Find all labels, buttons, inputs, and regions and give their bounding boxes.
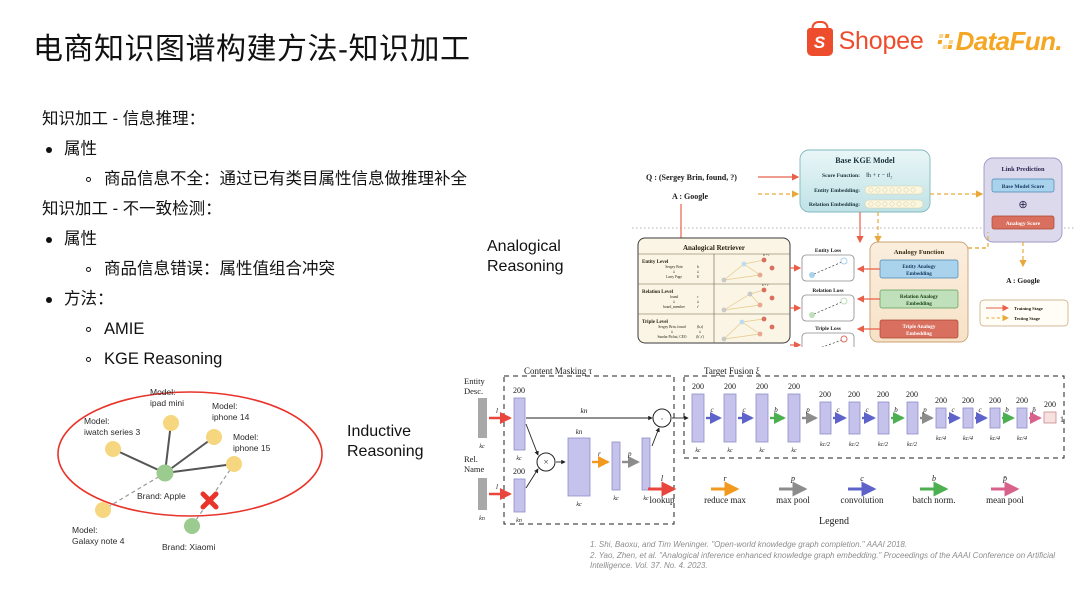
svg-text:200: 200 [935,396,947,405]
node-label: ipad mini [150,398,184,408]
svg-text:⇓: ⇓ [696,270,699,274]
svg-text:lookup: lookup [649,495,675,505]
svg-text:mean pool: mean pool [986,495,1024,505]
caption-line-1: Analogical [487,237,564,257]
entity-embedding-label: Entity Embedding: [814,188,860,194]
edge-to-multiply [526,424,538,455]
shopee-logo: S Shopee [807,27,924,56]
svg-text:kc/2: kc/2 [907,442,917,448]
caption-line-2: Reasoning [487,257,564,277]
graph-node [184,518,200,534]
brand-bar: S Shopee DataFun. [807,26,1062,57]
svg-text:batch norm.: batch norm. [913,495,956,505]
svg-text:Sergey Brin: Sergey Brin [665,265,682,269]
svg-text:r: r [723,474,727,483]
svg-text:kc/4: kc/4 [990,435,1000,442]
multiply-symbol: × [543,457,548,467]
svg-text:200: 200 [1044,400,1056,409]
svg-text:h: h [697,265,699,269]
svg-text:kn: kn [576,428,583,436]
convolution-symbol: c [978,406,982,414]
lookup-symbol: l [496,407,498,415]
entity-input-bar [478,398,487,438]
node-label: iphone 15 [233,443,271,453]
base-kge-title: Base KGE Model [835,156,895,165]
caption-inductive-reasoning: Inductive Reasoning [347,422,424,462]
svg-text:l: l [661,474,664,483]
svg-text:kc: kc [791,448,797,454]
convolution-symbol: c [836,406,840,414]
masking-block: 200 kc [513,386,525,462]
bullet-subitem: AMIE [42,314,512,344]
svg-text:200: 200 [1016,396,1028,405]
base-model-score-label: Base Model Score [1002,184,1045,190]
bullet-item: 属性 [42,134,512,164]
rel-name-label: Name [464,464,485,474]
node-label: Galaxy note 4 [72,536,125,546]
caption-analogical-reasoning: Analogical Reasoning [487,237,564,277]
rel-input-bar [478,478,487,510]
svg-text:⇓: ⇓ [696,300,699,304]
svg-text:1: 1 [1060,415,1064,424]
svg-text:200: 200 [788,382,800,391]
svg-text:kc/4: kc/4 [963,435,973,442]
entity-input-sub: kc [479,444,485,450]
svg-text:200: 200 [819,390,831,399]
meanpool-symbol: p̄ [1031,406,1036,414]
svg-text:200: 200 [692,382,704,391]
citation-item: 1. Shi, Baoxu, and Tim Weninger. "Open-w… [590,540,1060,551]
datafun-logo: DataFun. [938,26,1062,57]
graph-node [163,415,179,431]
plus-operator-icon: ⊕ [1018,199,1027,211]
dot-product-symbol: · [661,414,664,424]
node-label: Brand: Xiaomi [162,542,215,552]
maxpool-symbol: p [922,406,927,414]
rel-name-label: Rel. [464,454,478,464]
svg-text:Triple Loss: Triple Loss [815,326,841,332]
svg-text:p: p [790,474,795,483]
citation-item: 2. Yao, Zhen, et al. "Analogical inferen… [590,551,1060,572]
entity-desc-label: Entity [464,376,486,386]
masking-block: kc [612,442,620,502]
caption-line-1: Inductive [347,422,424,442]
bullet-subitem: 商品信息不全：通过已有类目属性信息做推理补全 [42,164,512,194]
svg-text:200: 200 [989,396,1001,405]
svg-text:kc/2: kc/2 [849,442,859,448]
convolution-symbol: c [865,406,869,414]
bullet-list: 知识加工 - 信息推理： 属性 商品信息不全：通过已有类目属性信息做推理补全 知… [42,104,512,374]
relation-embedding-label: Relation Embedding: [809,202,860,208]
chip-label-line2: Embedding [906,301,932,307]
svg-text:⇓: ⇓ [698,330,701,334]
svg-text:Entity Loss: Entity Loss [815,248,841,254]
graph-node [95,502,111,518]
node-label: Model: [212,401,238,411]
masking-block: 200 kn [513,467,525,524]
reduce-max-symbol: r [598,450,601,458]
chip-label-line1: Triple Analogy [903,324,936,330]
bullet-heading: 知识加工 - 信息推理： [42,104,512,134]
svg-text:⇓: ⇓ [670,330,673,334]
chip-label-line1: Entity Analogy [902,264,936,270]
legend-item-convolution: c convolution [841,474,884,505]
bullet-item: 属性 [42,224,512,254]
svg-text:h' + r: h' + r [763,253,771,257]
owe-legend: l lookup r reduce max p max pool c convo… [648,474,1024,527]
triple-loss-box: Triple Loss [802,326,854,347]
svg-text:200: 200 [756,382,768,391]
fusion-block: 200 kc/2 [848,390,860,448]
analogical-retriever-title: Analogical Retriever [683,244,745,252]
max-pool-symbol: p [627,450,632,458]
svg-text:reduce max: reduce max [704,495,746,505]
retriever-loss-arrows [790,268,800,345]
svg-text:kc/2: kc/2 [820,442,830,448]
svg-text:⇓: ⇓ [672,300,675,304]
shopee-wordmark: Shopee [839,27,924,56]
stage-legend-box [980,300,1068,326]
legend-item-batch-norm: b batch norm. [913,474,956,505]
svg-text:kc/4: kc/4 [936,435,946,442]
svg-text:200: 200 [848,390,860,399]
skip-label: kn [580,406,587,415]
legend-item-mean-pool: p̄ mean pool [986,474,1024,505]
link-prediction-title: Link Prediction [1001,166,1044,173]
fusion-block: 200 kc/4 [1016,396,1028,442]
svg-text:kc: kc [695,448,701,454]
svg-text:kc: kc [643,496,649,502]
legend-item-reduce-max: r reduce max [704,474,746,505]
fusion-block: 200 kc/4 [935,396,947,442]
legend-item-max-pool: p max pool [776,474,810,505]
chip-label-line1: Relation Analogy [900,294,939,300]
node-label: iphone 14 [212,412,250,422]
node-label: iwatch series 3 [84,427,140,437]
fusion-block: 200 kc/2 [877,390,889,448]
chip-label-line2: Embedding [906,271,932,277]
owe-architecture-figure: Content Masking τ Target Fusion ξ Entity… [462,366,1076,534]
score-function-value: ‖h + r − t‖₂ [866,172,893,179]
masking-block: kn kc [568,428,590,508]
answer-text: A : Google [672,192,708,201]
maxpool-symbol: p [805,406,810,414]
batchnorm-symbol: b [1005,406,1009,414]
fusion-block: 200 kc/4 [989,396,1001,442]
edge-to-dot [652,428,659,446]
node-label: Model: [72,525,98,535]
node-label: Brand: Apple [137,491,186,501]
chip-label-line2: Embedding [906,331,932,337]
citation-list: 1. Shi, Baoxu, and Tim Weninger. "Open-w… [590,540,1060,572]
fusion-block: 200 kc [724,382,736,454]
svg-text:200: 200 [513,386,525,395]
fusion-block: 200 kc/2 [906,390,918,448]
legend-title: Legend [819,516,849,527]
svg-text:found: found [670,295,679,299]
entity-loss-box: Entity Loss [802,248,854,281]
graph-node [157,465,174,482]
svg-text:b: b [932,474,936,483]
node-label: Model: [233,432,259,442]
rel-input-sub: kn [479,516,485,522]
answer-output-text: A : Google [1006,276,1040,285]
fusion-block: 200 kc [788,382,800,454]
svg-text:board_member: board_member [663,305,686,309]
svg-text:kn: kn [516,518,522,524]
datafun-dots-icon [936,34,954,49]
datafun-wordmark: DataFun. [956,26,1062,57]
node-label: Model: [84,416,110,426]
batchnorm-symbol: b [894,406,898,414]
convolution-symbol: c [710,406,714,414]
relation-loss-box: Relation Loss [802,288,854,321]
entity-desc-label: Desc. [464,386,483,396]
legend-training-label: Training Stage [1014,306,1043,311]
fusion-block: 200 kc [692,382,704,454]
content-masking-title: Content Masking τ [524,366,592,376]
svg-text:200: 200 [962,396,974,405]
inductive-reasoning-figure: Model: ipad mini Model: iwatch series 3 … [40,368,340,560]
fusion-block: 200 kc/4 [962,396,974,442]
svg-text:kc: kc [727,448,733,454]
svg-text:h': h' [697,275,700,279]
svg-text:p̄: p̄ [1002,474,1007,483]
page-title: 电商知识图谱构建方法-知识加工 [33,24,471,68]
convolution-symbol: c [742,406,746,414]
lookup-symbol: l [496,483,498,491]
fusion-block: 200 kc/2 [819,390,831,448]
convolution-symbol: c [951,406,955,414]
svg-text:200: 200 [877,390,889,399]
target-fusion-title: Target Fusion ξ [704,366,760,376]
svg-text:max pool: max pool [776,495,810,505]
batchnorm-symbol: b [774,406,778,414]
analogical-reasoning-figure: Q : (Sergey Brin, found, ?) A : Google B… [632,142,1076,347]
entity-embedding-cells [865,186,923,194]
svg-text:kc: kc [516,456,522,462]
bullet-heading: 知识加工 - 不一致检测： [42,194,512,224]
svg-text:⇓: ⇓ [672,270,675,274]
node-label: Model: [150,387,176,397]
svg-text:Relation Loss: Relation Loss [812,288,843,294]
svg-text:200: 200 [724,382,736,391]
graph-node [105,441,121,457]
svg-text:kc: kc [576,502,582,508]
fusion-block: 200 kc [756,382,768,454]
legend-testing-label: Testing Stage [1014,316,1040,321]
svg-text:kc: kc [613,496,619,502]
edge-to-multiply [526,469,538,488]
conflict-cross-icon [203,494,216,507]
svg-text:200: 200 [906,390,918,399]
analogy-score-label: Analogy Score [1006,221,1041,227]
score-function-label: Score Function: [822,173,860,179]
graph-node [226,456,242,472]
graph-node [206,429,222,445]
shopee-bag-icon: S [807,28,833,56]
fusion-output-block: 200 1 [1044,400,1064,424]
svg-text:200: 200 [513,467,525,476]
svg-text:h + r': h + r' [762,283,769,287]
bullet-item: 方法： [42,284,512,314]
bullet-subitem: 商品信息错误：属性值组合冲突 [42,254,512,284]
legend-item-lookup: l lookup [648,474,675,505]
query-text: Q : (Sergey Brin, found, ?) [646,173,737,182]
svg-text:c: c [860,474,864,483]
relation-embedding-cells [865,200,923,208]
svg-text:kc/2: kc/2 [878,442,888,448]
svg-text:kc: kc [759,448,765,454]
caption-line-2: Reasoning [347,442,424,462]
svg-text:Larry Page: Larry Page [666,275,682,279]
svg-text:kc/4: kc/4 [1017,435,1027,442]
shopee-bag-letter: S [814,34,825,51]
svg-text:convolution: convolution [841,495,884,505]
analogy-function-title: Analogy Function [894,249,945,256]
masking-block: kc [642,438,650,502]
